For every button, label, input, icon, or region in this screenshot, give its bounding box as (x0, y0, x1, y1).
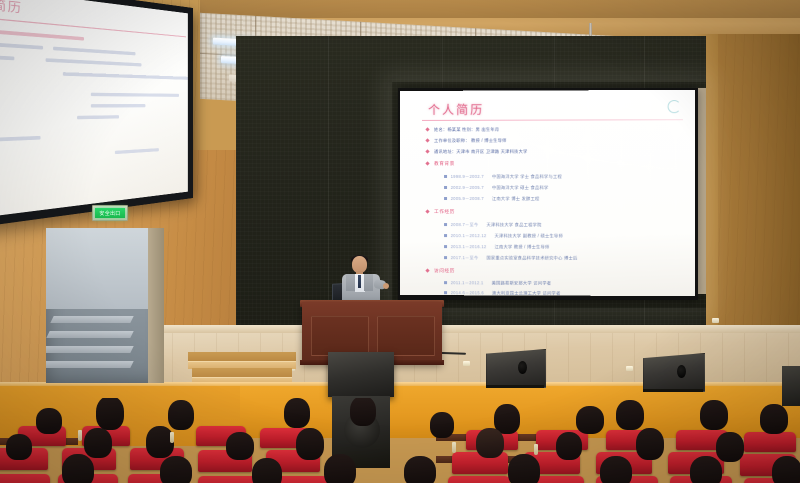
slide-title-rule (422, 119, 683, 121)
slide-line: 江南大学 博士 发酵工程 (492, 196, 540, 201)
slide-line-date: 1998.9－2002.7 (451, 174, 484, 179)
presenter-lapel-right (364, 274, 373, 291)
slide-line: 美国路易斯安那大学 访问学者 (492, 280, 552, 285)
slide-line: 天津科技大学 副教授 / 硕士生导师 (495, 233, 563, 238)
left-screen-surface: 个人简历 (0, 0, 188, 220)
slide-subbullet-icon (444, 281, 447, 284)
slide-bullet-icon (425, 209, 429, 213)
audience-head (226, 432, 254, 460)
side-exit-doorway[interactable] (46, 228, 164, 383)
pa-tower-speaker-head (328, 352, 394, 397)
presenter-at-podium (340, 256, 388, 306)
audience-head (252, 458, 282, 483)
audience-head (636, 428, 664, 460)
audience-head (576, 406, 604, 434)
exit-door-leaf[interactable] (148, 228, 164, 383)
slide-section-header: 访问经历 (434, 268, 455, 273)
audience-head (36, 408, 62, 434)
slide-line: 工作单位及职称： 教授 / 博士生导师 (434, 138, 507, 143)
audience-head (616, 400, 644, 430)
stage-monitor-center (486, 349, 546, 388)
left-projection-screen: 个人简历 (0, 0, 193, 230)
slide-line: 中国海洋大学 学士 食品科学与工程 (492, 174, 562, 179)
audience-head (716, 432, 744, 462)
audience-head (96, 398, 124, 430)
stair-tread (46, 361, 134, 368)
podium-panel-right (377, 316, 435, 356)
slide-line-date: 2005.9－2008.7 (451, 196, 484, 201)
slide-line: 天津科技大学 食品工程学院 (486, 222, 541, 227)
stair-tread (46, 346, 134, 353)
podium-panel-left (311, 316, 369, 356)
slide-bullet-icon (425, 268, 429, 272)
slide-subbullet-icon (444, 175, 447, 178)
water-bottle (452, 442, 456, 453)
floor-marker-3 (626, 366, 633, 371)
presenter-tie (358, 275, 361, 288)
slide-subbullet-icon (444, 234, 447, 237)
audience-head (404, 456, 436, 483)
slide-subbullet-icon (444, 223, 447, 226)
slide-line: 澳大利亚昆士兰理工大学 访问学者 (492, 290, 561, 295)
stage-monitor-right-base (643, 389, 703, 392)
audience-head (324, 454, 356, 483)
audience-head (284, 398, 310, 428)
circular-institution-logo (668, 100, 681, 113)
seat[interactable] (448, 476, 510, 483)
presenter-hand (383, 283, 389, 289)
audience-head (476, 428, 504, 458)
slide-line: 姓名：杨某某 性别：男 出生年月 (434, 127, 499, 132)
audience-head (84, 428, 112, 458)
audience-head (296, 428, 324, 460)
seat[interactable] (198, 476, 258, 483)
slide-subbullet-icon (444, 186, 447, 189)
lecture-hall-photo: EPSON 个人简历 (0, 0, 800, 483)
slide-line-date: 2010.1－2012.12 (451, 233, 487, 238)
slide-line-date: 2014.6－2015.6 (451, 290, 484, 295)
stair-tread (46, 331, 133, 338)
ceiling-soffit (190, 0, 800, 18)
slide-line: 中国海洋大学 硕士 食品科学 (492, 185, 549, 190)
audience-head (690, 456, 722, 483)
main-screen-surface: 个人简历 姓名：杨某某 性别：男 出生年月 工作单位及职称： 教授 / 博士生导… (400, 90, 695, 296)
slide-subbullet-icon (444, 256, 447, 259)
audience-head (600, 456, 632, 483)
slide-bullet-icon (425, 138, 429, 142)
water-bottle (170, 432, 174, 443)
slide-subbullet-icon (444, 291, 447, 294)
water-bottle (78, 430, 82, 441)
slide-section-header: 工作经历 (434, 209, 455, 214)
left-screen-title: 个人简历 (0, 0, 22, 16)
slide-section-header: 教育背景 (434, 161, 455, 166)
slide-line: 国家重点实验室食品科学技术研究中心 博士后 (486, 255, 577, 260)
emergency-exit-sign: 安全出口 (92, 205, 128, 221)
slide-bullet-icon (425, 127, 429, 131)
floor-marker-2 (463, 361, 470, 366)
audience-head (772, 456, 800, 483)
audience-head (168, 400, 194, 430)
slide-title: 个人简历 (428, 101, 484, 118)
water-bottle (534, 444, 538, 455)
audience-head (508, 454, 540, 483)
audience-head (760, 404, 788, 434)
seat[interactable] (744, 432, 796, 452)
slide-line-date: 2017.1－至今 (451, 255, 479, 260)
main-projection-screen: 个人简历 姓名：杨某某 性别：男 出生年月 工作单位及职称： 教授 / 博士生导… (398, 88, 698, 300)
audience-head (430, 412, 454, 438)
seat[interactable] (0, 474, 50, 483)
audience-seating (0, 398, 800, 483)
audience-head (700, 400, 728, 430)
exit-sign-face: 安全出口 (95, 208, 125, 218)
stage-monitor-right (643, 353, 705, 392)
slide-subbullet-icon (444, 245, 447, 248)
audience-head (6, 434, 32, 460)
slide-line-date: 2002.9－2005.7 (451, 185, 484, 190)
stair-tread (50, 316, 133, 323)
slide-line: 通讯地址：天津市 南开区 卫津路 天津科技大学 (434, 149, 528, 154)
audience-head (350, 398, 376, 426)
slide-line: 江南大学 教授 / 博士生导师 (495, 244, 550, 249)
slide-line-date: 2013.1－2016.12 (451, 244, 487, 249)
stairwell-wall (46, 228, 164, 309)
wall-marker (712, 318, 719, 323)
audience-head (556, 432, 582, 460)
audience-head (160, 456, 192, 483)
slide-line-date: 2008.7－至今 (451, 222, 479, 227)
presenter-lapel-left (346, 274, 355, 291)
slide-line-date: 2011.1－2012.1 (451, 280, 484, 285)
slide-bullet-icon (425, 149, 429, 153)
slide-subbullet-icon (444, 197, 447, 200)
stage-monitor-center-base (486, 385, 544, 388)
slide-bullet-icon (425, 161, 429, 165)
stage-floor-nose (150, 325, 800, 333)
audience-head (62, 454, 94, 483)
